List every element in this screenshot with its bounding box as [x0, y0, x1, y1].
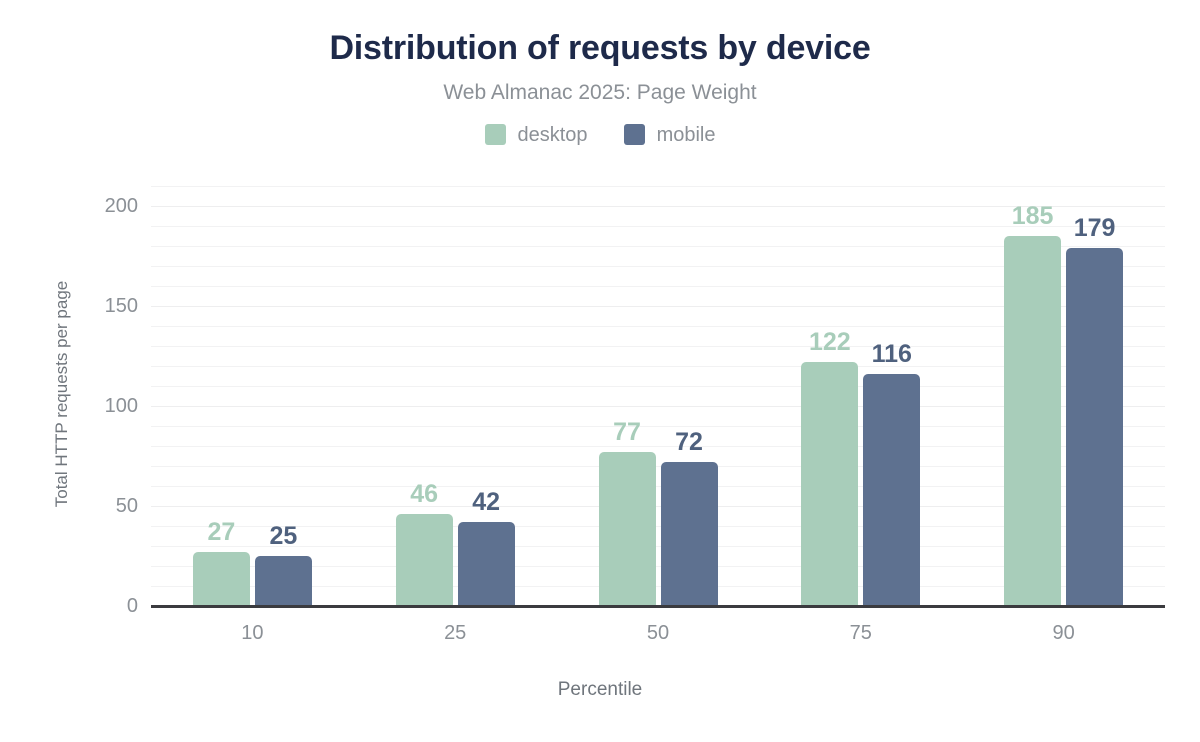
gridline — [151, 246, 1165, 247]
gridline — [151, 326, 1165, 327]
x-axis-line — [151, 605, 1165, 608]
y-axis-title: Total HTTP requests per page — [52, 281, 72, 507]
legend-item-desktop[interactable]: desktop — [485, 124, 588, 145]
chart-header: Distribution of requests by device Web A… — [0, 0, 1200, 145]
bar-desktop-50[interactable]: 77 — [599, 452, 656, 606]
bar-value-label: 46 — [410, 482, 438, 507]
bar-value-label: 25 — [269, 524, 297, 549]
gridline — [151, 406, 1165, 407]
gridline — [151, 186, 1165, 187]
x-axis-tick-label: 90 — [1052, 623, 1074, 643]
bar-value-label: 42 — [472, 490, 500, 515]
x-axis-tick-label: 25 — [444, 623, 466, 643]
gridline — [151, 226, 1165, 227]
gridline — [151, 386, 1165, 387]
gridline — [151, 346, 1165, 347]
bar-mobile-25[interactable]: 42 — [458, 522, 515, 606]
gridline — [151, 426, 1165, 427]
bar-value-label: 179 — [1074, 216, 1116, 241]
bar-value-label: 122 — [809, 330, 851, 355]
legend-label-mobile: mobile — [657, 125, 716, 145]
bar-mobile-10[interactable]: 25 — [255, 556, 312, 606]
gridline — [151, 366, 1165, 367]
bar-mobile-90[interactable]: 179 — [1066, 248, 1123, 606]
bar-mobile-50[interactable]: 72 — [661, 462, 718, 606]
bar-group: 2725 — [151, 182, 1165, 606]
bar-group: 122116 — [151, 182, 1165, 606]
y-axis-tick-label: 150 — [58, 296, 138, 316]
x-axis-tick-label: 50 — [647, 623, 669, 643]
y-axis-tick-label: 50 — [58, 496, 138, 516]
y-axis-tick-label: 100 — [58, 396, 138, 416]
bar-desktop-90[interactable]: 185 — [1004, 236, 1061, 606]
legend-label-desktop: desktop — [518, 125, 588, 145]
bar-value-label: 77 — [613, 420, 641, 445]
x-axis-tick-label: 10 — [241, 623, 263, 643]
bar-value-label: 185 — [1012, 204, 1054, 229]
y-axis-tick-label: 200 — [58, 196, 138, 216]
gridline — [151, 546, 1165, 547]
x-axis-title: Percentile — [0, 679, 1200, 701]
gridline — [151, 206, 1165, 207]
bar-value-label: 116 — [872, 342, 912, 367]
gridline — [151, 486, 1165, 487]
legend-swatch-desktop — [485, 124, 506, 145]
legend-swatch-mobile — [624, 124, 645, 145]
bar-group: 185179 — [151, 182, 1165, 606]
chart-subtitle: Web Almanac 2025: Page Weight — [0, 81, 1200, 104]
bar-desktop-25[interactable]: 46 — [396, 514, 453, 606]
gridline — [151, 566, 1165, 567]
gridline — [151, 586, 1165, 587]
gridline — [151, 606, 1165, 607]
bar-value-label: 27 — [207, 520, 235, 545]
chart-title: Distribution of requests by device — [0, 30, 1200, 67]
bar-mobile-75[interactable]: 116 — [863, 374, 920, 606]
gridline — [151, 526, 1165, 527]
gridline — [151, 266, 1165, 267]
y-axis-tick-label: 0 — [58, 596, 138, 616]
plot-area: 272546427772122116185179 — [151, 182, 1165, 606]
bar-group: 4642 — [151, 182, 1165, 606]
gridline — [151, 286, 1165, 287]
legend-item-mobile[interactable]: mobile — [624, 124, 716, 145]
bar-desktop-10[interactable]: 27 — [193, 552, 250, 606]
bar-group: 7772 — [151, 182, 1165, 606]
bar-value-label: 72 — [675, 430, 703, 455]
gridline — [151, 446, 1165, 447]
gridline — [151, 306, 1165, 307]
gridline — [151, 466, 1165, 467]
gridline — [151, 506, 1165, 507]
chart-legend: desktop mobile — [0, 124, 1200, 145]
y-axis-title-holder: Total HTTP requests per page — [62, 182, 63, 606]
bar-desktop-75[interactable]: 122 — [801, 362, 858, 606]
x-axis-tick-label: 75 — [850, 623, 872, 643]
